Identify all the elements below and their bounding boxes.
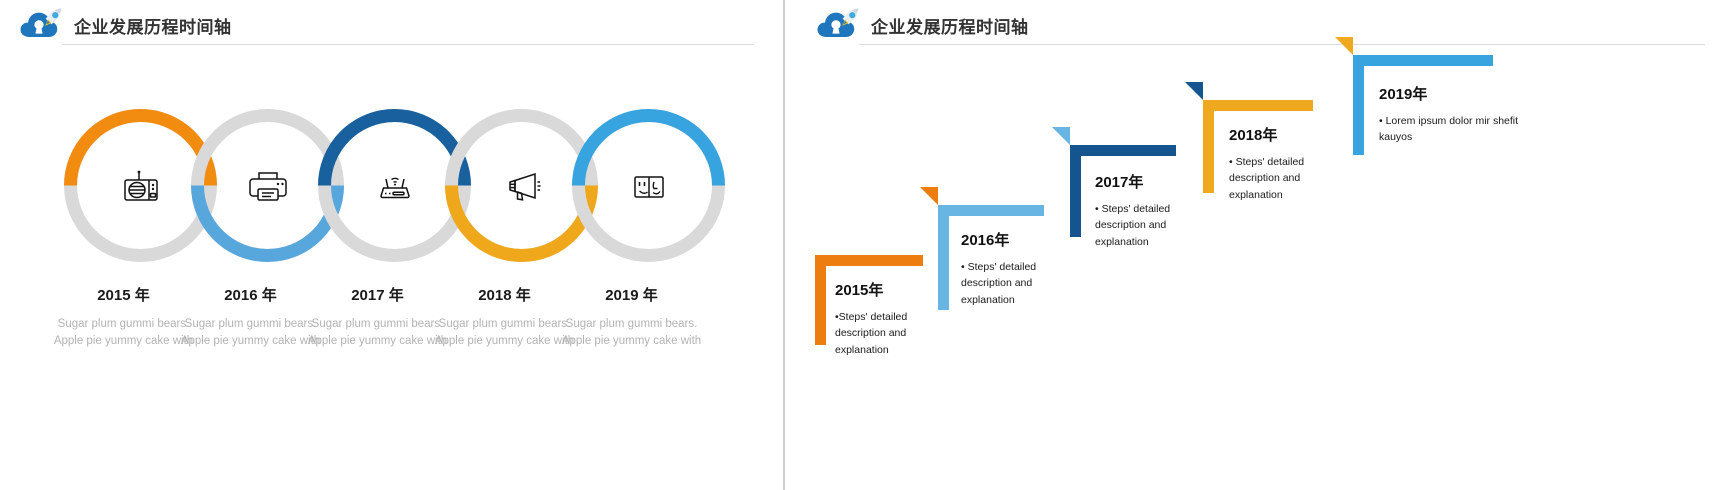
stair-top-bar <box>938 205 1044 216</box>
stair-year: 2017年 <box>1095 171 1213 192</box>
header-divider-left <box>62 44 754 45</box>
ring-timeline-row: 2015 年 Sugar plum gummi bears. Apple pie… <box>60 104 695 267</box>
stair-body: 2018年 • Steps' detailed description and … <box>1229 124 1347 203</box>
stair-desc: • Lorem ipsum dolor mir shefit kauyos <box>1379 113 1519 146</box>
cloud-lock-rocket-logo-icon <box>18 7 64 43</box>
timeline-item-2015[interactable]: 2015 年 Sugar plum gummi bears. Apple pie… <box>60 104 187 267</box>
stair-body: 2016年 • Steps' detailed description and … <box>961 229 1076 308</box>
stair-body: 2019年 • Lorem ipsum dolor mir shefit kau… <box>1379 83 1519 146</box>
stair-arrow-icon <box>1052 127 1070 145</box>
stair-arrow-icon <box>1185 82 1203 100</box>
stair-body: 2015年 •Steps' detailed description and e… <box>835 279 945 358</box>
timeline-item-2018[interactable]: 2018 年 Sugar plum gummi bears. Apple pie… <box>441 104 568 267</box>
stair-desc: • Steps' detailed description and explan… <box>1229 154 1347 203</box>
stair-left-bar <box>1070 145 1081 237</box>
stair-body: 2017年 • Steps' detailed description and … <box>1095 171 1213 250</box>
stair-year: 2016年 <box>961 229 1076 250</box>
timeline-item-2017[interactable]: 2017 年 Sugar plum gummi bears. Apple pie… <box>314 104 441 267</box>
slide-ring-timeline: 企业发展历程时间轴 <box>0 0 783 490</box>
stair-year: 2015年 <box>835 279 945 300</box>
stair-left-bar <box>938 205 949 310</box>
slide-header-left: 企业发展历程时间轴 <box>18 6 232 44</box>
stair-left-bar <box>1203 100 1214 193</box>
timeline-desc: Sugar plum gummi bears. Apple pie yummy … <box>550 316 713 349</box>
stair-desc: • Steps' detailed description and explan… <box>961 259 1076 308</box>
stair-year: 2018年 <box>1229 124 1347 145</box>
stair-top-bar <box>1353 55 1493 66</box>
page-title: 企业发展历程时间轴 <box>74 13 232 38</box>
staircase-row: 2015年 •Steps' detailed description and e… <box>785 0 1720 490</box>
timeline-item-2016[interactable]: 2016 年 Sugar plum gummi bears. Apple pie… <box>187 104 314 267</box>
stair-desc: •Steps' detailed description and explana… <box>835 309 945 358</box>
stair-left-bar <box>1353 55 1364 155</box>
stair-year: 2019年 <box>1379 83 1519 104</box>
stair-left-bar <box>815 255 826 345</box>
slide-staircase: 企业发展历程时间轴 2015年 •Steps' detailed descrip… <box>785 0 1720 490</box>
stair-arrow-icon <box>920 187 938 205</box>
stair-top-bar <box>1070 145 1176 156</box>
slide-deck: 企业发展历程时间轴 <box>0 0 1720 490</box>
stair-top-bar <box>815 255 923 266</box>
ring-2019 <box>567 104 730 267</box>
stair-top-bar <box>1203 100 1313 111</box>
stair-item-2019[interactable]: 2019年 • Lorem ipsum dolor mir shefit kau… <box>1353 55 1613 205</box>
timeline-text-2019: 2019 年 Sugar plum gummi bears. Apple pie… <box>550 284 713 349</box>
stair-arrow-icon <box>1335 37 1353 55</box>
timeline-year: 2019 年 <box>550 284 713 305</box>
timeline-item-2019[interactable]: 2019 年 Sugar plum gummi bears. Apple pie… <box>568 104 695 267</box>
stair-desc: • Steps' detailed description and explan… <box>1095 201 1213 250</box>
